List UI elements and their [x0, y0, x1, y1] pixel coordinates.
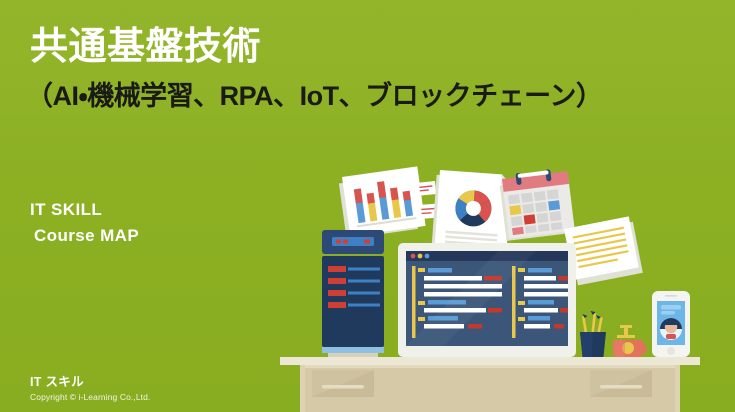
kicker-line-2: Course MAP — [30, 223, 139, 249]
calendar-icon — [499, 167, 576, 241]
pencil-cup — [580, 311, 606, 357]
page-subtitle: （AI・機械学習、RPA、IoT、ブロックチェーン） — [26, 81, 602, 112]
server-tower — [322, 230, 384, 357]
smartphone-with-avatar — [652, 291, 690, 357]
slide-root: 共通基盤技術 （AI・機械学習、RPA、IoT、ブロックチェーン） IT SKI… — [0, 0, 735, 412]
kicker-block: IT SKILL Course MAP — [30, 197, 139, 250]
footer-copyright: Copyright © i-Learning Co.,Ltd. — [30, 392, 150, 402]
page-title: 共通基盤技術 — [30, 26, 261, 69]
desk — [280, 357, 700, 412]
desk-illustration — [280, 165, 700, 412]
footer-brand: IT スキル — [30, 371, 84, 390]
kicker-line-1: IT SKILL — [30, 200, 102, 219]
laptop-with-code-editor — [382, 243, 592, 364]
coffee-mug — [613, 325, 647, 359]
bar-chart-document — [338, 166, 426, 239]
